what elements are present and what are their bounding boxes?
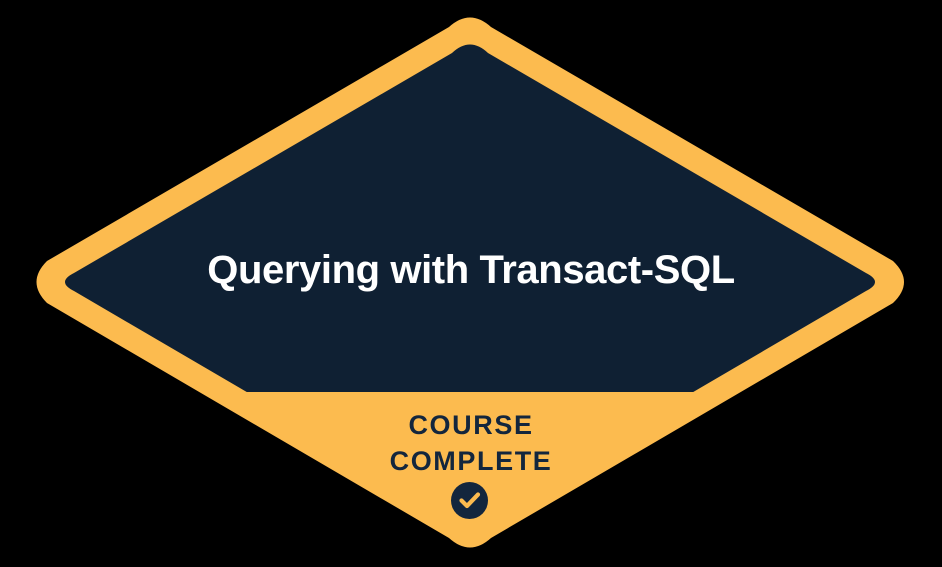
badge-stage: Querying with Transact-SQL COURSE COMPLE… [0,0,942,567]
course-badge-graphic [0,0,942,567]
check-badge [451,482,488,519]
